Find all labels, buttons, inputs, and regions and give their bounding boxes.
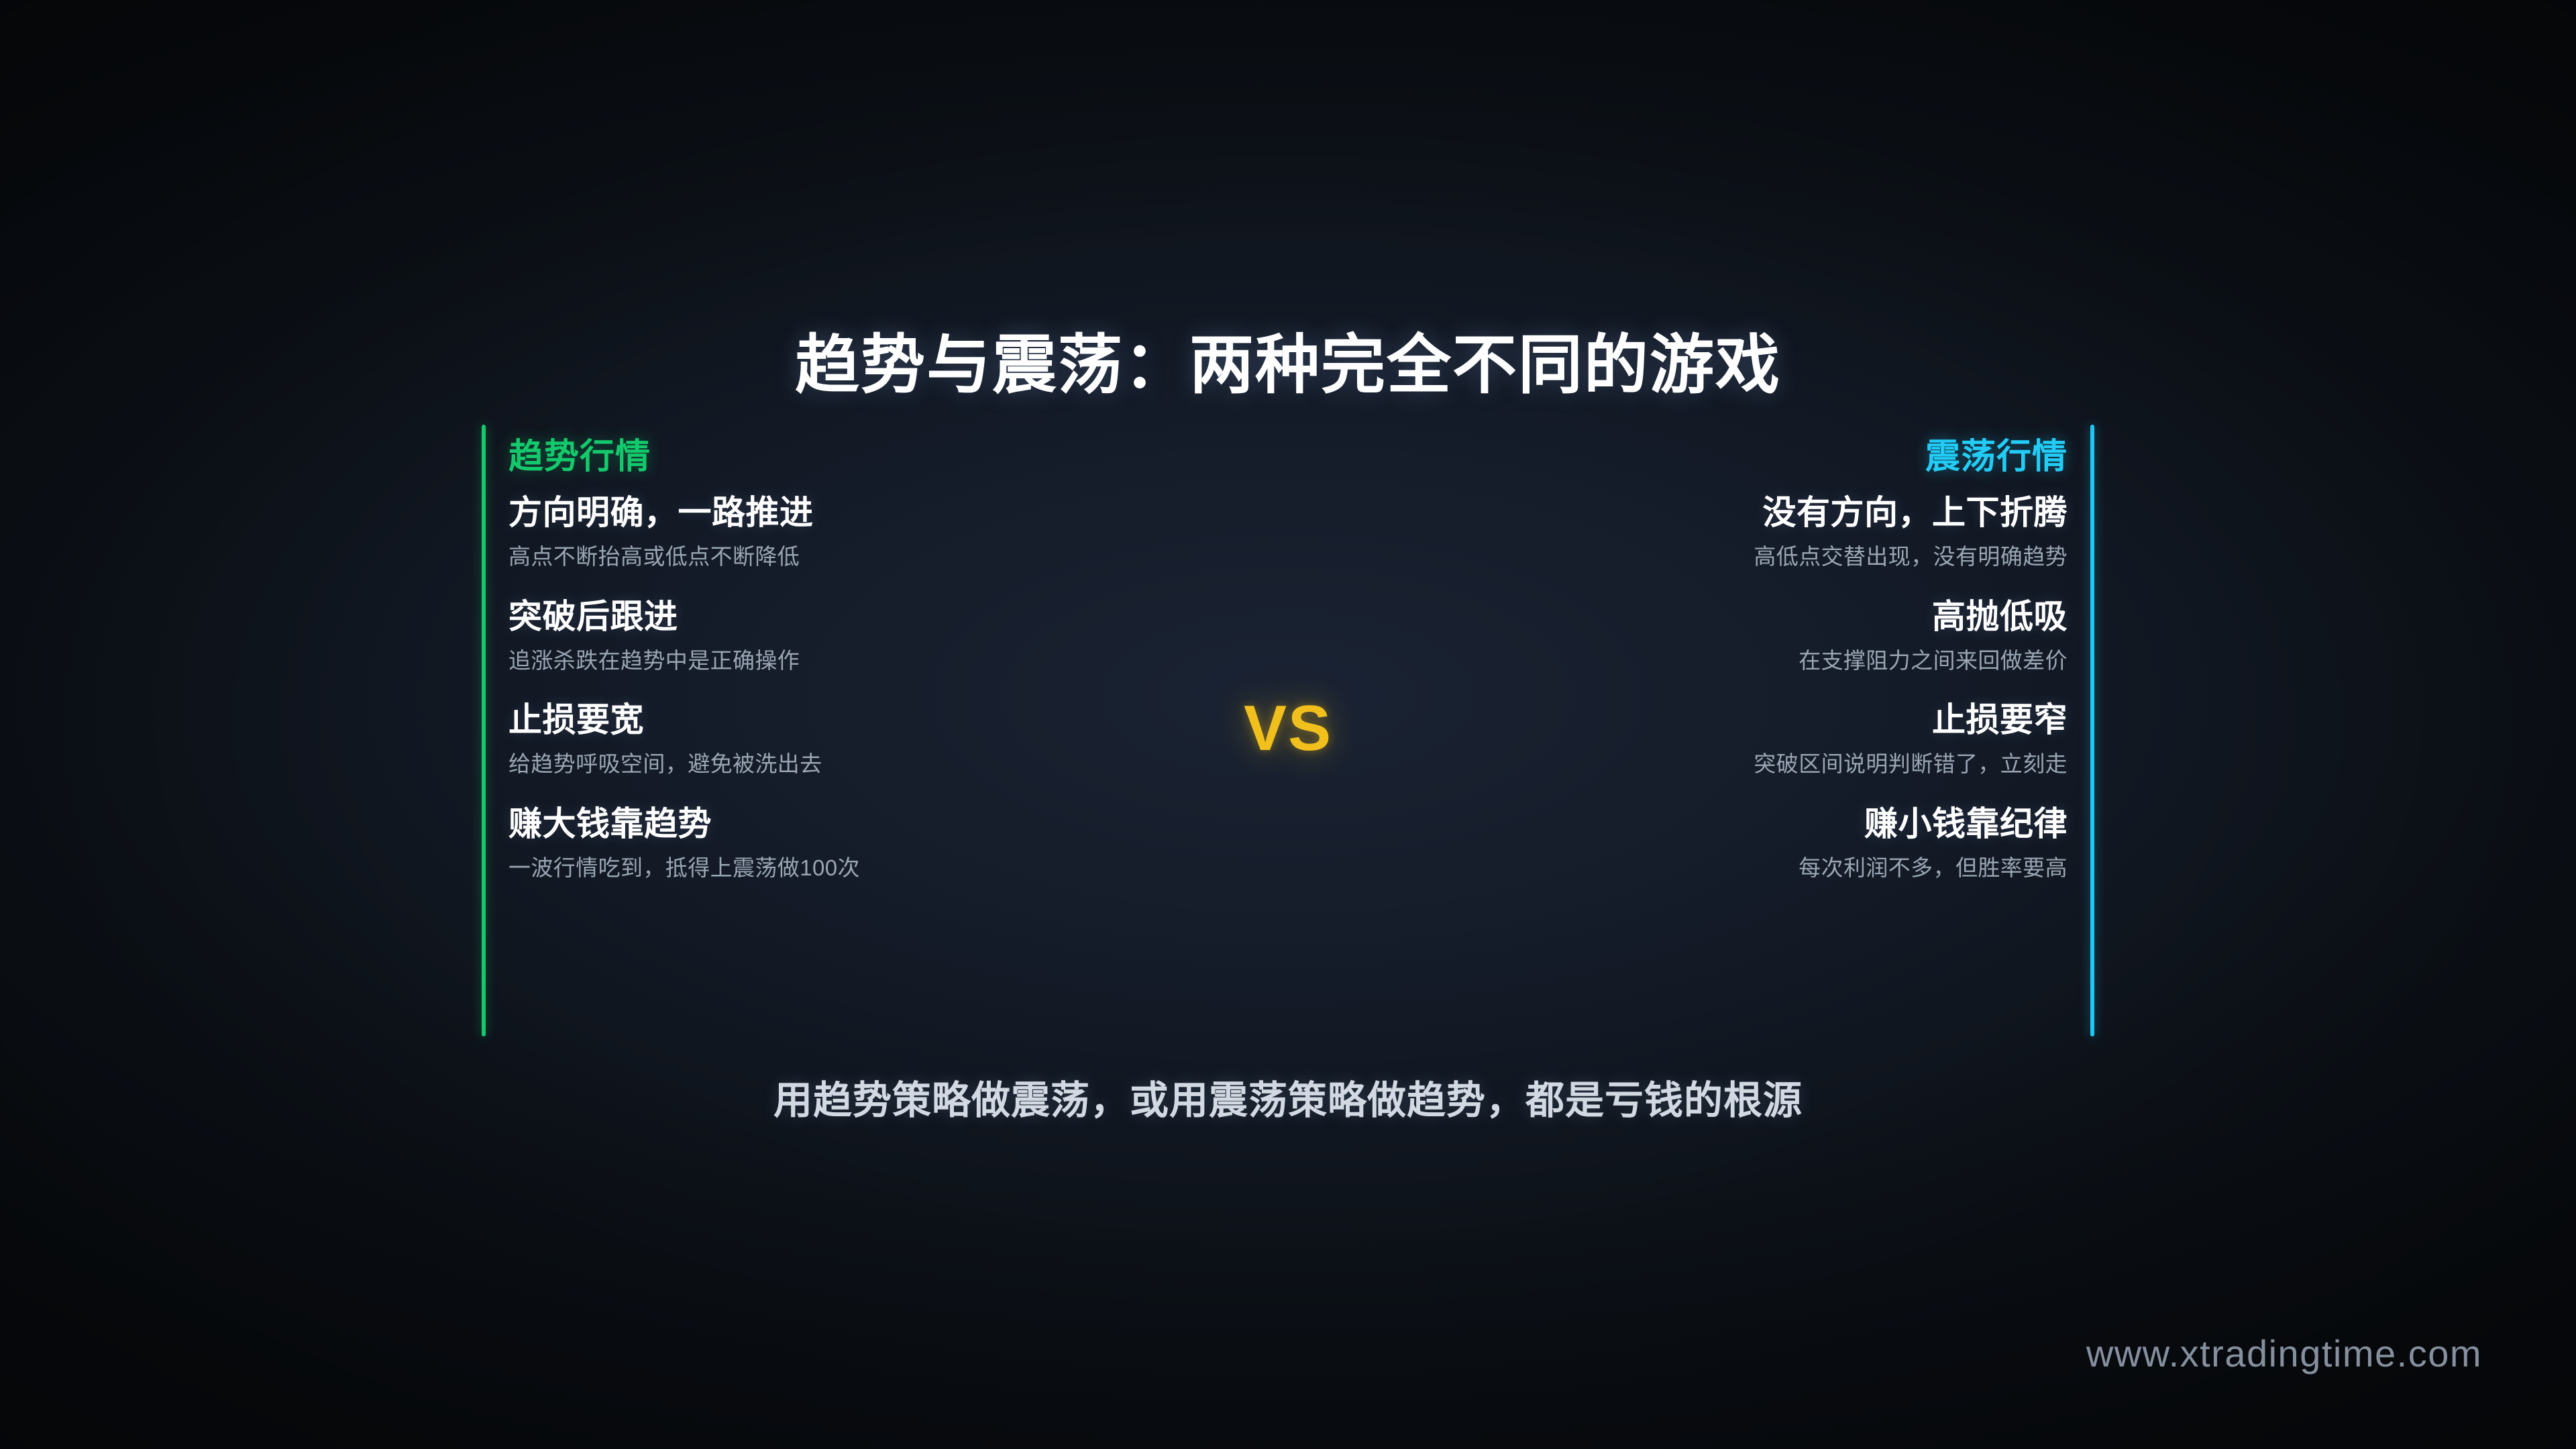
list-item: 赚大钱靠趋势 一波行情吃到，抵得上震荡做100次 [508,804,1166,881]
vs-badge: VS [0,696,2576,761]
page-title: 趋势与震荡：两种完全不同的游戏 [0,313,2576,406]
range-item-title: 没有方向，上下折腾 [1410,493,2068,533]
list-item: 突破后跟进 追涨杀跌在趋势中是正确操作 [508,597,1166,674]
range-item-desc: 高低点交替出现，没有明确趋势 [1410,543,2068,570]
range-item-title: 赚小钱靠纪律 [1410,804,2068,844]
list-item: 高抛低吸 在支撑阻力之间来回做差价 [1410,597,2068,674]
range-column-header: 震荡行情 [1925,425,2068,489]
trend-item-title: 突破后跟进 [508,597,1166,637]
list-item: 赚小钱靠纪律 每次利润不多，但胜率要高 [1410,804,2068,881]
list-item: 方向明确，一路推进 高点不断抬高或低点不断降低 [508,493,1166,570]
trend-item-desc: 追涨杀跌在趋势中是正确操作 [508,647,1166,674]
range-item-desc: 在支撑阻力之间来回做差价 [1410,647,2068,674]
trend-item-title: 方向明确，一路推进 [508,493,1166,533]
trend-column-header: 趋势行情 [508,425,651,489]
range-item-desc: 每次利润不多，但胜率要高 [1410,855,2068,881]
trend-item-desc: 一波行情吃到，抵得上震荡做100次 [508,855,1166,881]
trend-item-title: 赚大钱靠趋势 [508,804,1166,844]
slide-root: 趋势与震荡：两种完全不同的游戏 趋势行情 方向明确，一路推进 高点不断抬高或低点… [0,0,2576,1449]
conclusion-text: 用趋势策略做震荡，或用震荡策略做趋势，都是亏钱的根源 [0,1069,2576,1125]
watermark-url: www.xtradingtime.com [2086,1332,2482,1375]
list-item: 没有方向，上下折腾 高低点交替出现，没有明确趋势 [1410,493,2068,570]
trend-item-desc: 高点不断抬高或低点不断降低 [508,543,1166,570]
range-item-title: 高抛低吸 [1410,597,2068,637]
